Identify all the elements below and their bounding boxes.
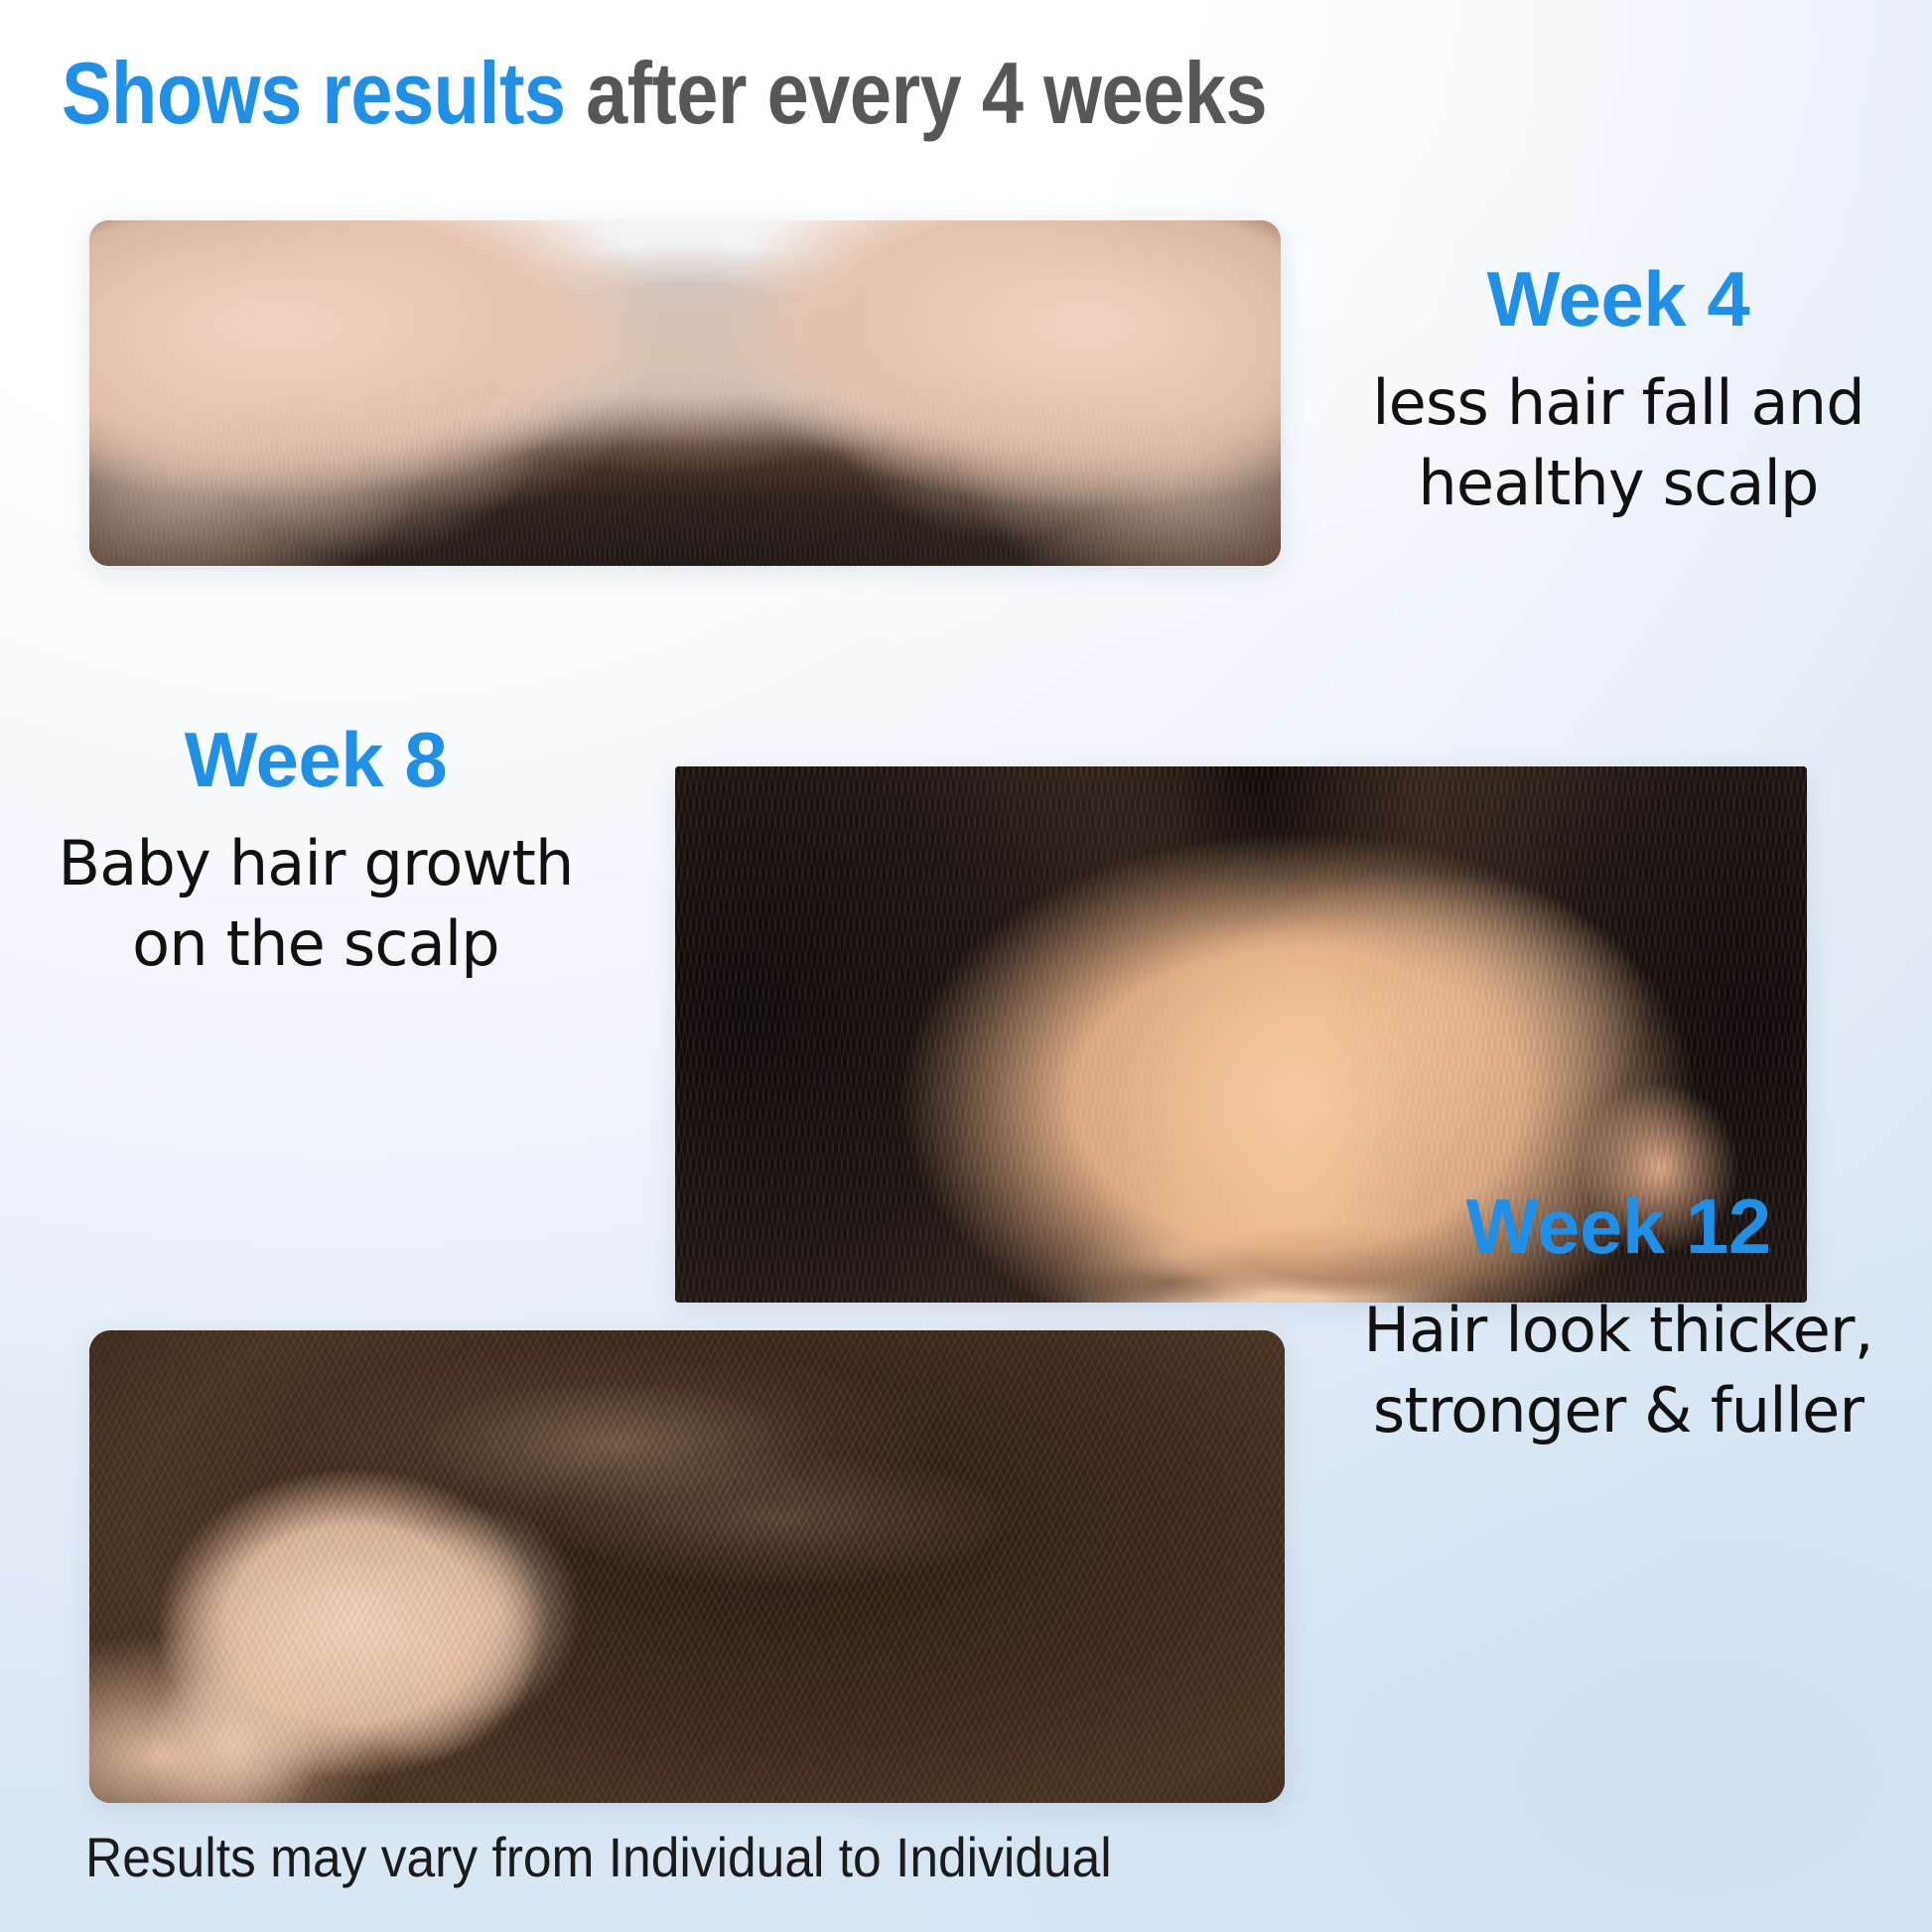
photo-week-4 — [89, 220, 1281, 566]
infographic-poster: Shows results after every 4 weeks Week 4… — [0, 0, 1932, 1932]
week-description-12-line-1: Hair look thicker, — [1320, 1291, 1916, 1371]
week-description-12-line-2: stronger & fuller — [1320, 1371, 1916, 1451]
week-description-8: Baby hair growth on the scalp — [20, 824, 612, 984]
week-description-4-line-2: healthy scalp — [1320, 444, 1916, 524]
caption-week-12: Week 12 Hair look thicker, stronger & fu… — [1320, 1187, 1916, 1450]
week-label-12: Week 12 — [1320, 1187, 1916, 1265]
week-description-8-line-1: Baby hair growth — [20, 824, 612, 904]
caption-week-4: Week 4 less hair fall and healthy scalp — [1320, 260, 1916, 523]
photo-week-12-image — [89, 1330, 1285, 1803]
week-description-12: Hair look thicker, stronger & fuller — [1320, 1291, 1916, 1450]
headline-secondary-text: after every 4 weeks — [566, 44, 1268, 142]
week-description-4-line-1: less hair fall and — [1320, 363, 1916, 444]
photo-week-4-image — [89, 220, 1281, 566]
headline-accent-text: Shows results — [62, 44, 566, 142]
week-description-4: less hair fall and healthy scalp — [1320, 363, 1916, 523]
results-disclaimer: Results may vary from Individual to Indi… — [85, 1827, 1273, 1888]
week-label-8: Week 8 — [20, 721, 612, 798]
week-description-8-line-2: on the scalp — [20, 904, 612, 985]
week-label-4: Week 4 — [1320, 260, 1916, 338]
page-title: Shows results after every 4 weeks — [62, 48, 1342, 139]
caption-week-8: Week 8 Baby hair growth on the scalp — [20, 721, 612, 984]
photo-week-12 — [89, 1330, 1285, 1803]
